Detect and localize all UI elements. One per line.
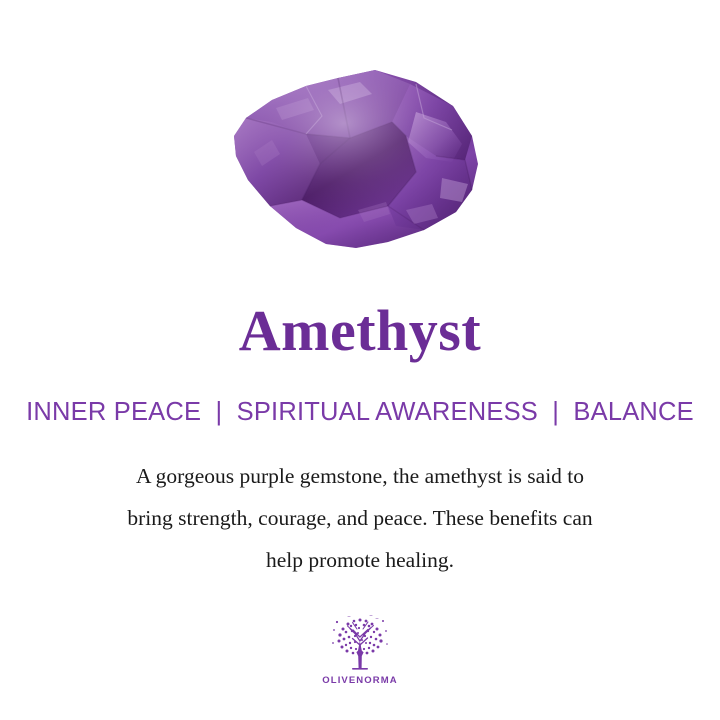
description-line: bring strength, courage, and peace. Thes… bbox=[50, 497, 670, 539]
keyword-spiritual-awareness: SPIRITUAL AWARENESS bbox=[237, 398, 538, 426]
raw-amethyst-crystal-image bbox=[210, 60, 510, 275]
brand-name: OLIVENORMA bbox=[0, 676, 720, 686]
description-line: A gorgeous purple gemstone, the amethyst… bbox=[50, 455, 670, 497]
keyword-list: INNER PEACE | SPIRITUAL AWARENESS | BALA… bbox=[0, 400, 720, 426]
keyword-separator: | bbox=[209, 398, 230, 426]
description-text: A gorgeous purple gemstone, the amethyst… bbox=[50, 455, 670, 581]
keyword-inner-peace: INNER PEACE bbox=[26, 398, 201, 426]
keyword-balance: BALANCE bbox=[573, 398, 693, 426]
amethyst-info-card: Amethyst INNER PEACE | SPIRITUAL AWARENE… bbox=[0, 0, 720, 720]
page-title: Amethyst bbox=[0, 302, 720, 360]
keyword-separator: | bbox=[545, 398, 566, 426]
olive-tree-logo-icon bbox=[325, 612, 395, 674]
crystal-body bbox=[234, 70, 478, 248]
gemstone-image-container bbox=[0, 60, 720, 275]
brand-logo: OLIVENORMA bbox=[0, 612, 720, 686]
description-line: help promote healing. bbox=[50, 539, 670, 581]
